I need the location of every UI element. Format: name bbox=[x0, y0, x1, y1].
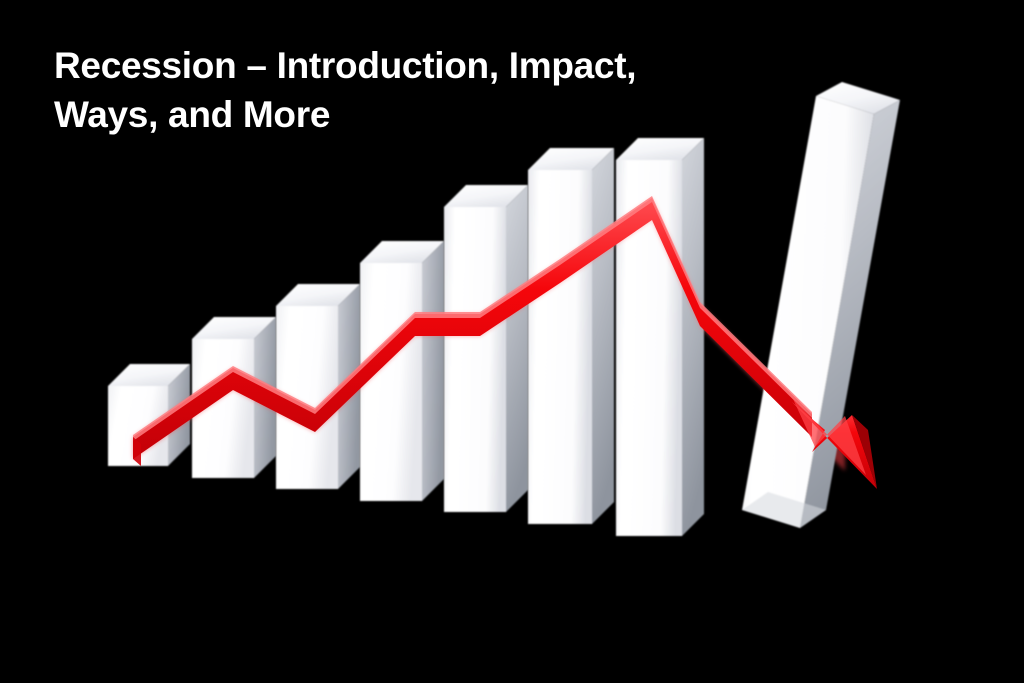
bar-column-5 bbox=[444, 185, 528, 512]
page-title: Recession – Introduction, Impact, Ways, … bbox=[54, 42, 934, 140]
bar-5-front-face bbox=[444, 207, 506, 512]
bar-5-side-face bbox=[506, 185, 528, 512]
bar-4-front-face bbox=[360, 263, 422, 501]
bar-7-side-face bbox=[682, 138, 704, 536]
bar-column-6 bbox=[528, 148, 614, 524]
bar-column-7 bbox=[616, 138, 704, 536]
bar-6-front-face bbox=[528, 170, 592, 524]
chart-canvas: Recession – Introduction, Impact, Ways, … bbox=[0, 0, 1024, 683]
bar-4-side-face bbox=[422, 241, 444, 501]
bar-6-side-face bbox=[592, 148, 614, 524]
